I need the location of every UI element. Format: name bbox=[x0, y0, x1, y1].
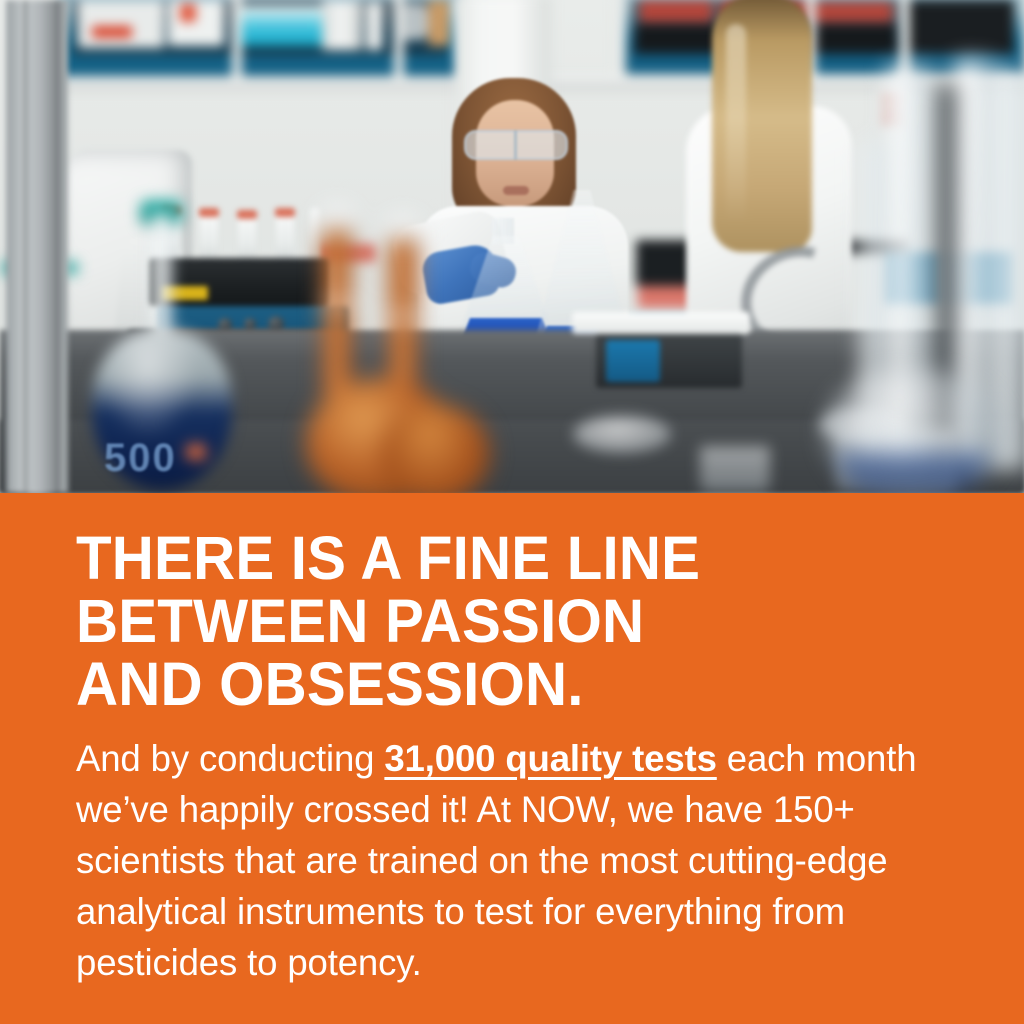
shelf-red-bin-1 bbox=[640, 0, 712, 22]
amber-flask-bulb-2 bbox=[380, 404, 490, 493]
vial-cap-4 bbox=[275, 208, 295, 217]
instrument-knob-2 bbox=[244, 318, 256, 330]
photo-scene: 500 bbox=[0, 0, 1024, 493]
vial-4 bbox=[276, 214, 294, 264]
amber-band-2 bbox=[386, 312, 420, 322]
laboratory-photo: 500 bbox=[0, 0, 1024, 493]
cabinet-post-3 bbox=[616, 0, 626, 80]
column-seam-1 bbox=[24, 0, 27, 493]
shelf-bottles-group bbox=[322, 0, 362, 50]
balance-tray bbox=[572, 312, 750, 334]
flask-500-neck bbox=[148, 214, 174, 342]
shelf-bottle-single bbox=[366, 2, 382, 50]
shelf-red-bin-3 bbox=[816, 2, 892, 22]
shelf-box-label-red bbox=[92, 26, 132, 38]
petri-dish-1 bbox=[574, 416, 670, 452]
cabinet-post-2 bbox=[394, 0, 404, 80]
vial-2 bbox=[200, 214, 218, 264]
glass-cylinder-3 bbox=[996, 70, 1024, 470]
shelf-dark-right bbox=[904, 0, 1014, 52]
amber-neck-1 bbox=[322, 230, 352, 400]
vial-cap-3 bbox=[237, 210, 257, 219]
balance-blue-panel bbox=[606, 340, 660, 382]
right-scientist-hair bbox=[712, 0, 812, 252]
social-graphic-canvas: 500 THERE IS A FINE LINE BETWEEN PASSION… bbox=[0, 0, 1024, 1024]
column-seam-2 bbox=[56, 0, 59, 493]
highlighted-stat: 31,000 quality tests bbox=[384, 737, 716, 779]
safety-goggles bbox=[464, 130, 568, 160]
right-flask-blue-tint bbox=[838, 452, 988, 493]
orange-text-panel: THERE IS A FINE LINE BETWEEN PASSION AND… bbox=[0, 493, 1024, 1024]
flask-500-volume-marking: 500 bbox=[104, 436, 177, 481]
body-copy-before: And by conducting bbox=[76, 737, 384, 779]
page-title: THERE IS A FINE LINE BETWEEN PASSION AND… bbox=[76, 527, 916, 716]
shelf-box-white-2 bbox=[168, 0, 224, 46]
cylinder-1-highlight bbox=[896, 70, 910, 410]
shelf-box-red-tag bbox=[180, 4, 196, 22]
shelf-box-white-1 bbox=[78, 0, 164, 48]
shelf-box-kraft bbox=[428, 0, 450, 46]
flask-500-orange-tag bbox=[186, 444, 206, 460]
vial-cap-2 bbox=[199, 208, 219, 217]
cabinet-post-1 bbox=[232, 0, 242, 80]
scientist-mouth bbox=[503, 186, 529, 195]
vial-3 bbox=[238, 216, 256, 264]
cylinder-2-highlight bbox=[962, 64, 976, 414]
shelf-box-cyan bbox=[232, 6, 328, 46]
amber-band-1 bbox=[320, 298, 354, 308]
beaker-right-2 bbox=[700, 446, 770, 492]
body-copy: And by conducting 31,000 quality tests e… bbox=[76, 733, 924, 988]
